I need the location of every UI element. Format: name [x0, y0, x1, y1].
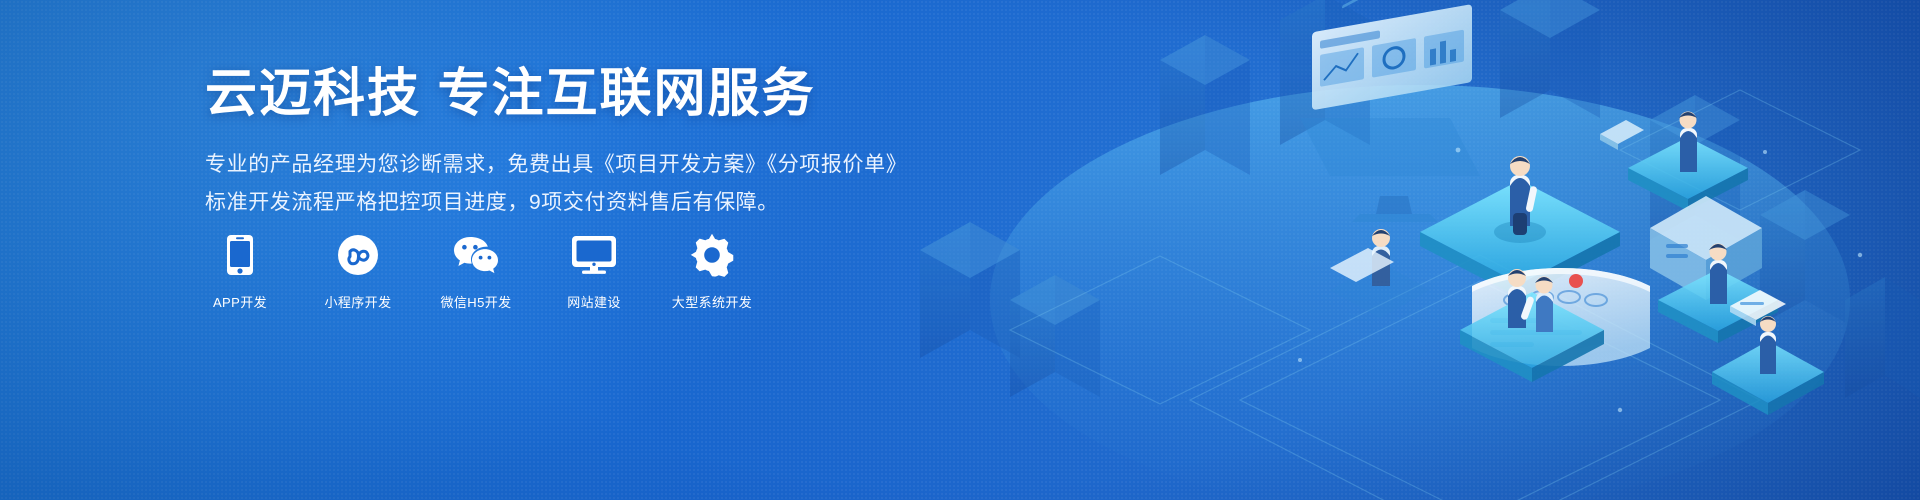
- service-item-app[interactable]: APP开发: [203, 232, 277, 311]
- subtitle-line-1: 专业的产品经理为您诊断需求，免费出具《项目开发方案》《分项报价单》: [205, 147, 965, 183]
- banner-copy: 云迈科技 专注互联网服务 专业的产品经理为您诊断需求，免费出具《项目开发方案》《…: [205, 64, 965, 224]
- service-label-website: 网站建设: [567, 292, 621, 311]
- mobile-phone-icon: [226, 232, 254, 278]
- service-label-app: APP开发: [213, 292, 267, 311]
- mini-program-icon: [337, 232, 379, 278]
- service-item-mini-program[interactable]: 小程序开发: [321, 232, 395, 311]
- service-label-mini-program: 小程序开发: [324, 292, 391, 311]
- service-item-wechat[interactable]: 微信H5开发: [439, 232, 513, 311]
- wechat-icon: [452, 232, 500, 278]
- service-label-wechat-h5: 微信H5开发: [440, 292, 511, 311]
- subtitle-line-2: 标准开发流程严格把控项目进度，9项交付资料售后有保障。: [205, 185, 965, 221]
- service-label-large-system: 大型系统开发: [672, 292, 752, 311]
- monitor-icon: [571, 232, 617, 278]
- service-list: APP开发 小程序开发: [203, 232, 749, 311]
- isometric-illustration: [860, 0, 1920, 500]
- service-item-large-system[interactable]: 大型系统开发: [675, 232, 749, 311]
- banner-subtitle: 专业的产品经理为您诊断需求，免费出具《项目开发方案》《分项报价单》 标准开发流程…: [205, 147, 965, 221]
- gear-icon: [690, 232, 734, 278]
- banner-headline: 云迈科技 专注互联网服务: [205, 64, 965, 125]
- hero-banner: 云迈科技 专注互联网服务 专业的产品经理为您诊断需求，免费出具《项目开发方案》《…: [0, 0, 1920, 500]
- service-item-website[interactable]: 网站建设: [557, 232, 631, 311]
